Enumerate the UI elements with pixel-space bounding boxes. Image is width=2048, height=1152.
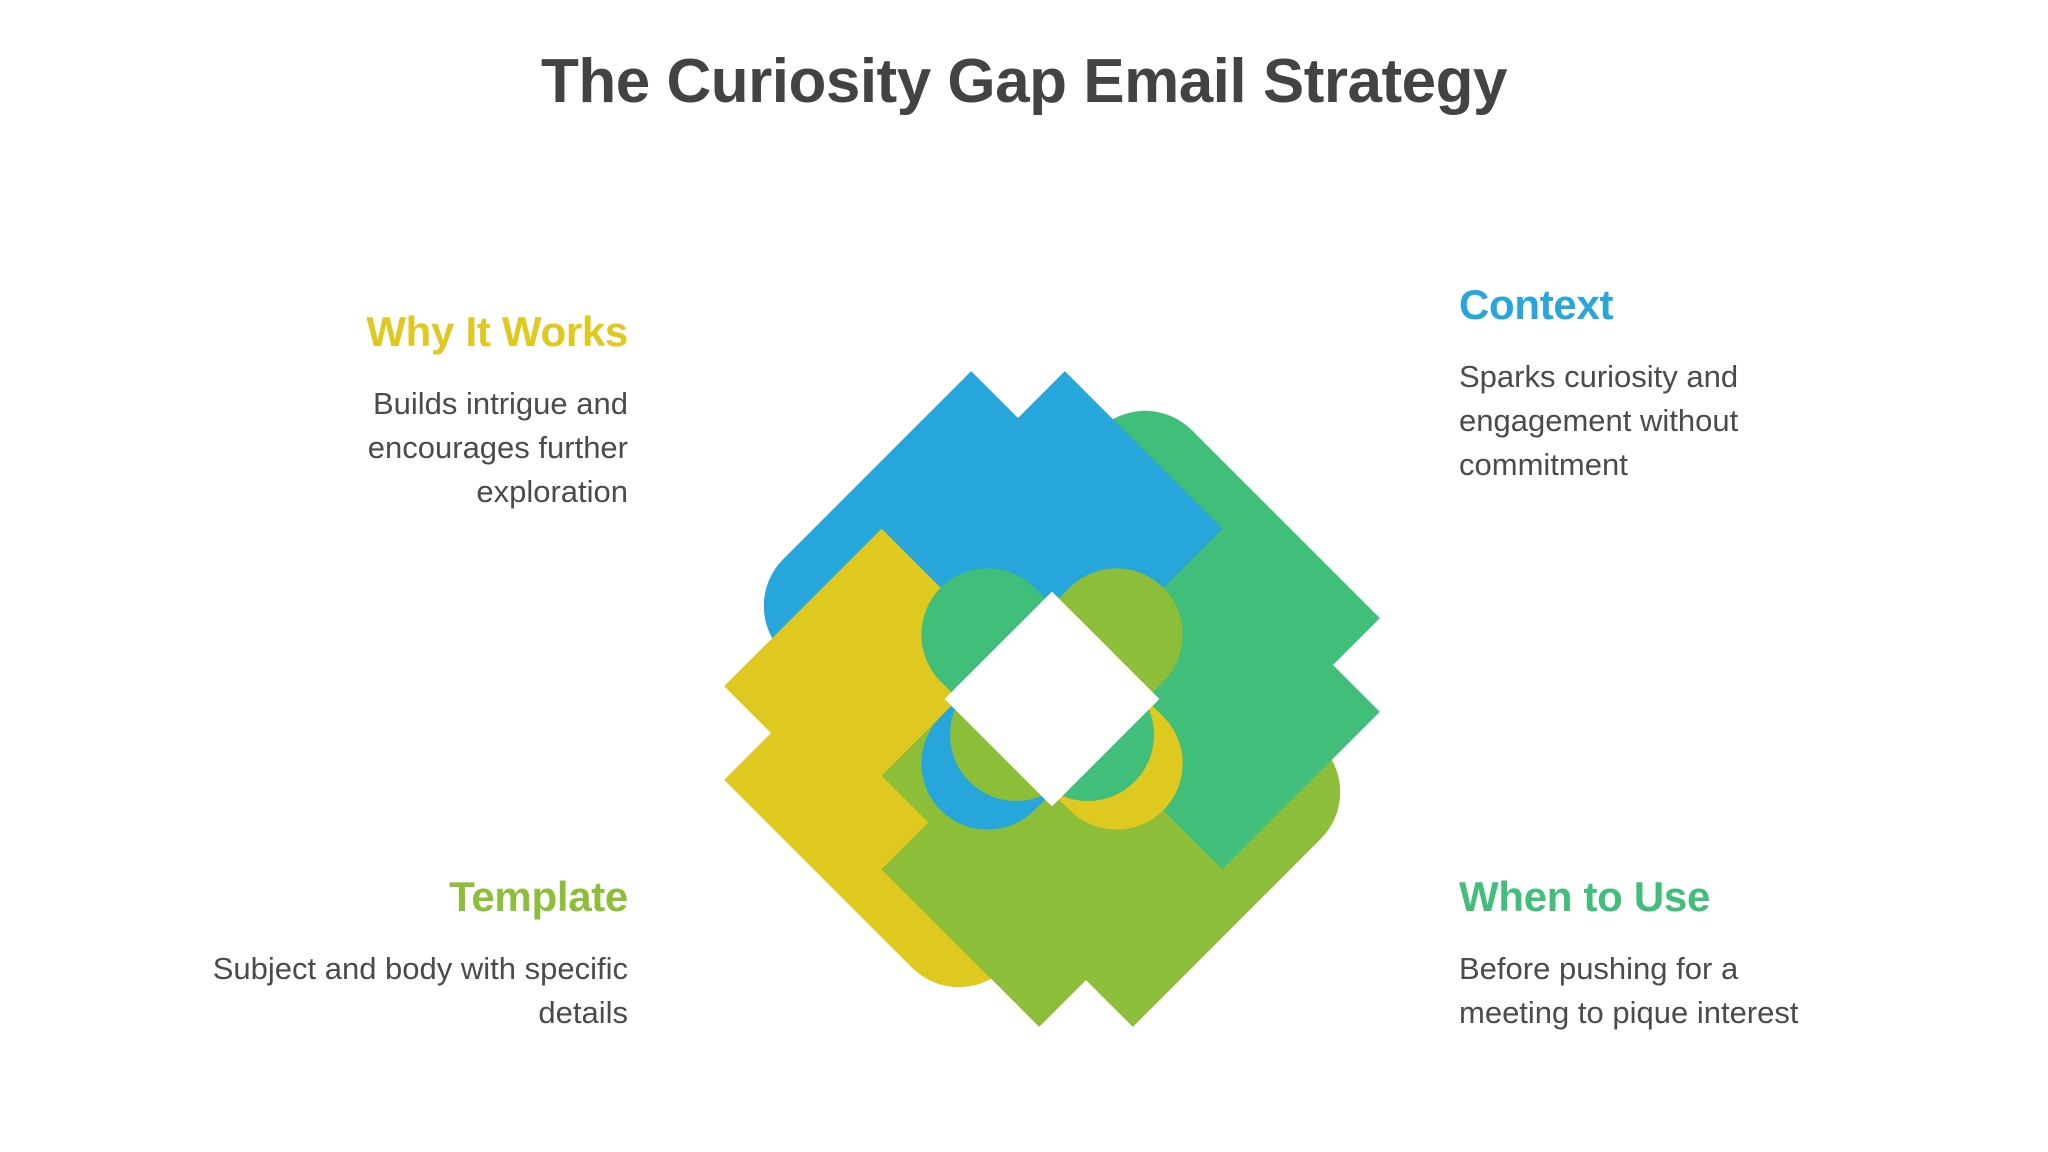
callout-body-why-it-works: Builds intrigue and encourages further e… [243, 382, 628, 514]
callout-why-it-works: Why It Works Builds intrigue and encoura… [243, 308, 628, 514]
callout-heading-template: Template [212, 873, 628, 921]
callout-body-when-to-use: Before pushing for a meeting to pique in… [1459, 947, 1854, 1035]
callout-context: Context Sparks curiosity and engagement … [1459, 281, 1854, 487]
interlocking-knot-diagram [694, 338, 1410, 1060]
knot-svg [694, 338, 1410, 1060]
callout-body-context: Sparks curiosity and engagement without … [1459, 355, 1854, 487]
page-title: The Curiosity Gap Email Strategy [0, 48, 2048, 116]
callout-heading-why-it-works: Why It Works [243, 308, 628, 356]
callout-heading-when-to-use: When to Use [1459, 873, 1854, 921]
callout-body-template: Subject and body with specific details [212, 947, 628, 1035]
callout-heading-context: Context [1459, 281, 1854, 329]
callout-template: Template Subject and body with specific … [212, 873, 628, 1035]
callout-when-to-use: When to Use Before pushing for a meeting… [1459, 873, 1854, 1035]
